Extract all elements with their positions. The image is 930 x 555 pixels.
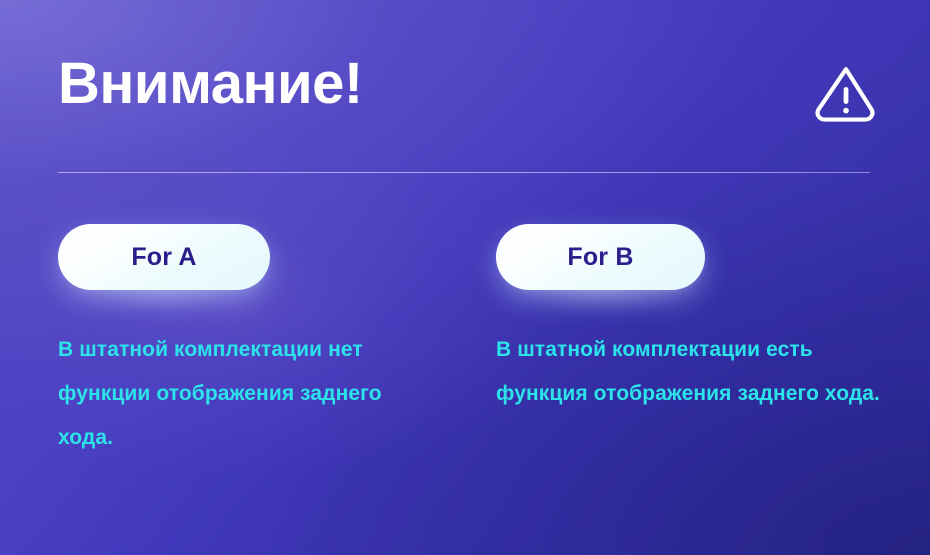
column-a: For A В штатной комплектации нет функции…: [58, 224, 458, 460]
slide-content: Внимание! For A В штатной комплектации н…: [0, 0, 930, 555]
column-b: For B В штатной комплектации есть функци…: [496, 224, 896, 416]
pill-wrap-a: For A: [58, 224, 270, 290]
header-divider: [58, 172, 870, 173]
warning-triangle-icon: [814, 64, 878, 128]
column-b-description: В штатной комплектации есть функция отоб…: [496, 290, 881, 416]
pill-wrap-b: For B: [496, 224, 705, 290]
for-b-button[interactable]: For B: [496, 224, 705, 290]
page-title: Внимание!: [58, 52, 363, 116]
slide-root: Внимание! For A В штатной комплектации н…: [0, 0, 930, 555]
column-a-description: В штатной комплектации нет функции отобр…: [58, 290, 440, 460]
for-a-button[interactable]: For A: [58, 224, 270, 290]
